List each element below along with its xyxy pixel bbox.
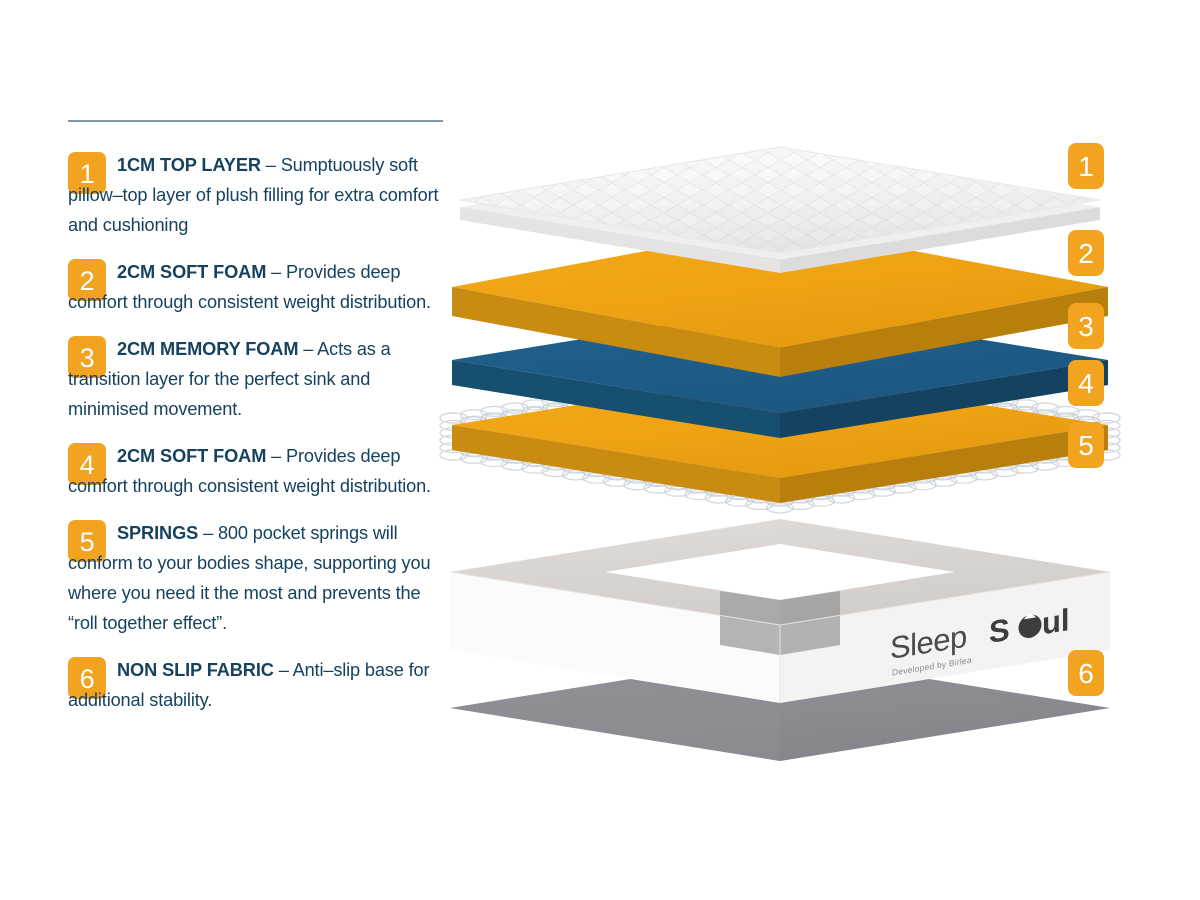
layer-dash-2: –: [266, 262, 286, 282]
list-item: 1 1CM TOP LAYER – Sumptuously soft pillo…: [68, 150, 446, 240]
layer-dash-6: –: [274, 660, 293, 680]
infographic-canvas: 1 1CM TOP LAYER – Sumptuously soft pillo…: [0, 0, 1200, 900]
layer-dash-1: –: [261, 155, 281, 175]
logo-text-s: S: [989, 612, 1010, 650]
layer-title-5: SPRINGS: [117, 523, 198, 543]
layer-title-2: 2CM SOFT FOAM: [117, 262, 266, 282]
list-item: 2 2CM SOFT FOAM – Provides deep comfort …: [68, 257, 446, 317]
layer-text-1: 1CM TOP LAYER – Sumptuously soft pillow–…: [68, 150, 446, 240]
layer-text-2: 2CM SOFT FOAM – Provides deep comfort th…: [68, 257, 446, 317]
layer-text-3: 2CM MEMORY FOAM – Acts as a transition l…: [68, 334, 446, 424]
logo-text-ul: ul: [1042, 602, 1070, 641]
callout-badge-5: 5: [1068, 422, 1104, 468]
layer-top-quilted: [460, 147, 1100, 273]
layer-dash-4: –: [266, 446, 286, 466]
layer-text-4: 2CM SOFT FOAM – Provides deep comfort th…: [68, 441, 446, 501]
callout-badge-3: 3: [1068, 303, 1104, 349]
layer-base-box: Sleep S ul Developed by Birlea: [450, 519, 1110, 703]
list-item: 4 2CM SOFT FOAM – Provides deep comfort …: [68, 441, 446, 501]
layer-dash-3: –: [298, 339, 317, 359]
layer-title-6: NON SLIP FABRIC: [117, 660, 274, 680]
callout-badge-1: 1: [1068, 143, 1104, 189]
callout-badge-6: 6: [1068, 650, 1104, 696]
list-item: 5 SPRINGS – 800 pocket springs will conf…: [68, 518, 446, 638]
layer-title-4: 2CM SOFT FOAM: [117, 446, 266, 466]
header-divider: [68, 120, 443, 122]
layer-text-5: SPRINGS – 800 pocket springs will confor…: [68, 518, 446, 638]
layer-description-list: 1 1CM TOP LAYER – Sumptuously soft pillo…: [68, 120, 446, 732]
layer-dash-5: –: [198, 523, 218, 543]
layer-title-3: 2CM MEMORY FOAM: [117, 339, 298, 359]
list-item: 3 2CM MEMORY FOAM – Acts as a transition…: [68, 334, 446, 424]
callout-badge-2: 2: [1068, 230, 1104, 276]
layer-text-6: NON SLIP FABRIC – Anti–slip base for add…: [68, 655, 446, 715]
callout-badge-4: 4: [1068, 360, 1104, 406]
layer-title-1: 1CM TOP LAYER: [117, 155, 261, 175]
list-item: 6 NON SLIP FABRIC – Anti–slip base for a…: [68, 655, 446, 715]
